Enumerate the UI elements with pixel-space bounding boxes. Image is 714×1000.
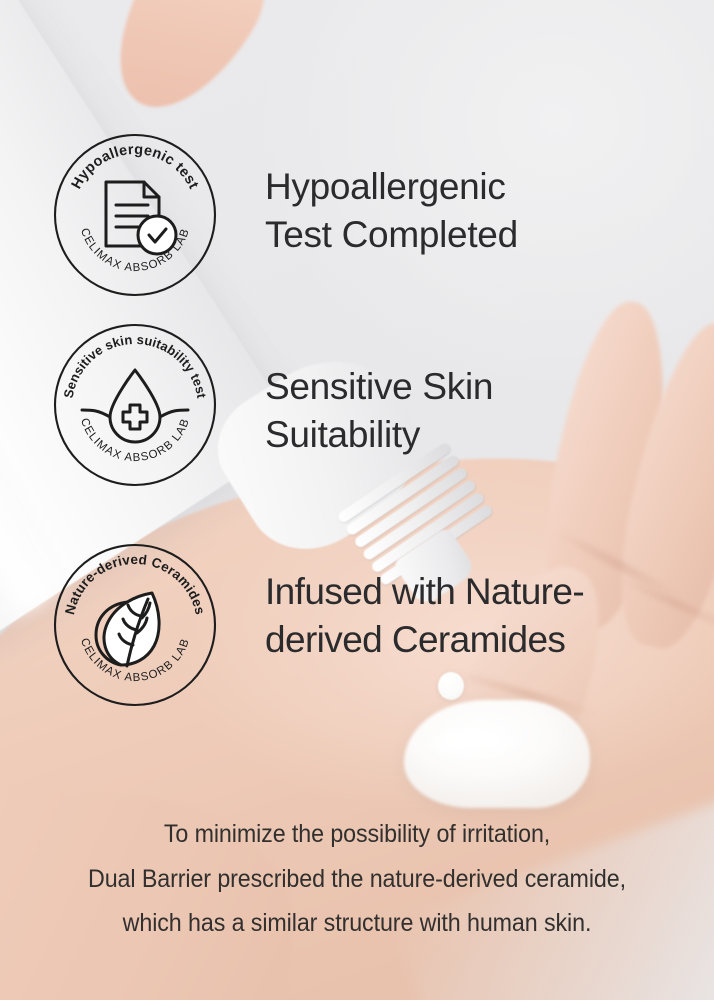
bottom-caption: To minimize the possibility of irritatio… — [25, 812, 689, 946]
caption-line-1: To minimize the possibility of irritatio… — [25, 812, 689, 857]
feature-heading-hypoallergenic: Hypoallergenic Test Completed — [265, 163, 518, 258]
product-feature-poster: REIL DUAL BARRIER — [0, 0, 714, 1000]
caption-line-3: which has a similar structure with human… — [25, 901, 689, 946]
caption-line-2: Dual Barrier prescribed the nature-deriv… — [25, 857, 689, 902]
feature-heading-sensitive-skin: Sensitive Skin Suitability — [265, 363, 493, 458]
feature-heading-ceramides: Infused with Nature- derived Ceramides — [265, 568, 584, 663]
